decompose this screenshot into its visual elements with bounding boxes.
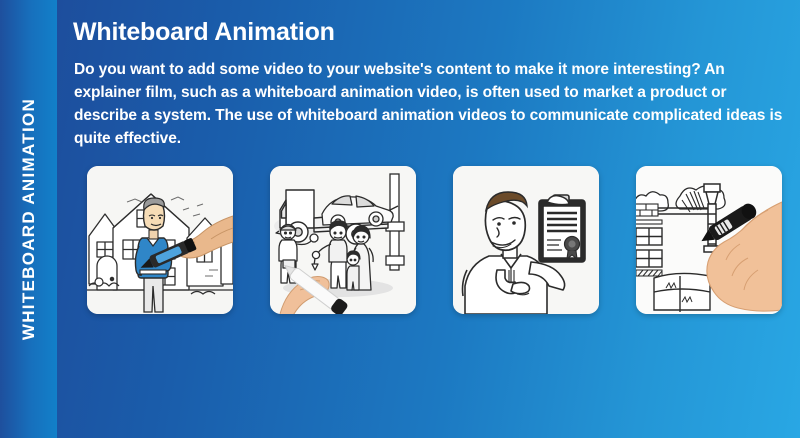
- whiteboard-animation-section: WHITEBOARD ANIMATION Whiteboard Animatio…: [0, 0, 800, 438]
- man-certificate-illustration: [453, 166, 599, 314]
- house-sketch-marker-illustration: [636, 166, 782, 314]
- gallery-thumbnail-man-certificate[interactable]: [453, 166, 599, 314]
- thumbnail-gallery: [87, 166, 797, 316]
- page-title: Whiteboard Animation: [73, 17, 335, 47]
- section-paragraph: Do you want to add some video to your we…: [74, 58, 784, 150]
- gallery-thumbnail-house-sketch-marker[interactable]: [636, 166, 782, 314]
- panel-content: Whiteboard Animation Do you want to add …: [73, 0, 800, 438]
- main-panel: Whiteboard Animation Do you want to add …: [57, 0, 800, 438]
- gallery-thumbnail-house-drawing[interactable]: [87, 166, 233, 314]
- side-tab-strip: WHITEBOARD ANIMATION: [0, 0, 57, 438]
- tow-truck-family-illustration: [270, 166, 416, 314]
- house-drawing-illustration: [87, 166, 233, 314]
- side-tab-label: WHITEBOARD ANIMATION: [19, 98, 39, 340]
- gallery-thumbnail-tow-truck-family[interactable]: [270, 166, 416, 314]
